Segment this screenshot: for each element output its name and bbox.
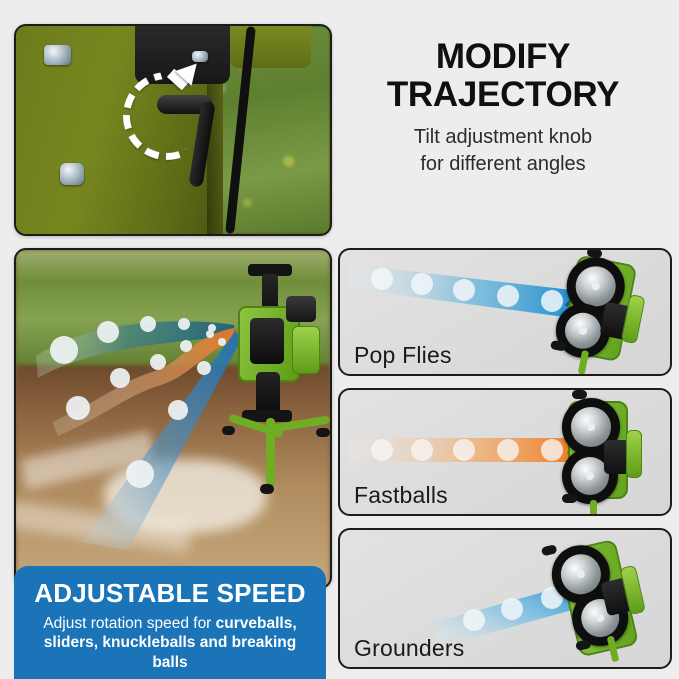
tripod-foot-top: [541, 544, 558, 556]
pitching-machine-main: [212, 260, 332, 490]
tripod-foot-left: [222, 426, 235, 435]
panel-label-grounders: Grounders: [354, 635, 464, 662]
machine-feed-housing: [250, 318, 284, 364]
adjustable-speed-callout: ADJUSTABLE SPEED Adjust rotation speed f…: [14, 566, 326, 679]
tripod-foot-front: [260, 484, 274, 494]
page-title-line1: MODIFY: [436, 37, 570, 76]
page-subtitle-line2: for different angles: [420, 153, 585, 175]
callout-description-prefix: Adjust rotation speed for: [43, 615, 215, 632]
field-action-photo: [14, 248, 332, 589]
headline-block: MODIFY TRAJECTORY Tilt adjustment knob f…: [338, 38, 668, 178]
callout-title: ADJUSTABLE SPEED: [14, 579, 326, 608]
tilt-knob-photo: [14, 24, 332, 236]
callout-description: Adjust rotation speed for curveballs, sl…: [28, 614, 312, 673]
infographic-stage: MODIFY TRAJECTORY Tilt adjustment knob f…: [0, 0, 679, 679]
hex-bolt-lower: [60, 163, 84, 185]
page-title: MODIFY TRAJECTORY: [338, 38, 668, 114]
hex-bolt-small: [192, 51, 208, 62]
panel-fastballs[interactable]: Fastballs: [338, 388, 672, 516]
panel-label-fastballs: Fastballs: [354, 482, 448, 509]
panel-label-pop-flies: Pop Flies: [354, 342, 452, 369]
machine-motor: [286, 296, 316, 322]
tripod-foot-top: [572, 390, 587, 399]
panel-grounders[interactable]: Grounders: [338, 528, 672, 669]
machine-side-panel: [626, 430, 642, 478]
machine-graphic-fast: [546, 390, 668, 514]
tripod-foot-bottom: [562, 494, 577, 503]
machine-graphic-pop: [535, 248, 672, 376]
machine-upper-arm: [230, 24, 312, 68]
machine-side-panel: [292, 326, 320, 374]
hex-bolt-upper: [44, 45, 71, 65]
tripod-leg-center: [590, 500, 597, 516]
page-title-line2: TRAJECTORY: [387, 75, 619, 114]
page-subtitle: Tilt adjustment knob for different angle…: [338, 124, 668, 178]
page-subtitle-line1: Tilt adjustment knob: [414, 126, 592, 148]
tripod-foot-right: [316, 428, 330, 437]
panel-pop-flies[interactable]: Pop Flies: [338, 248, 672, 376]
